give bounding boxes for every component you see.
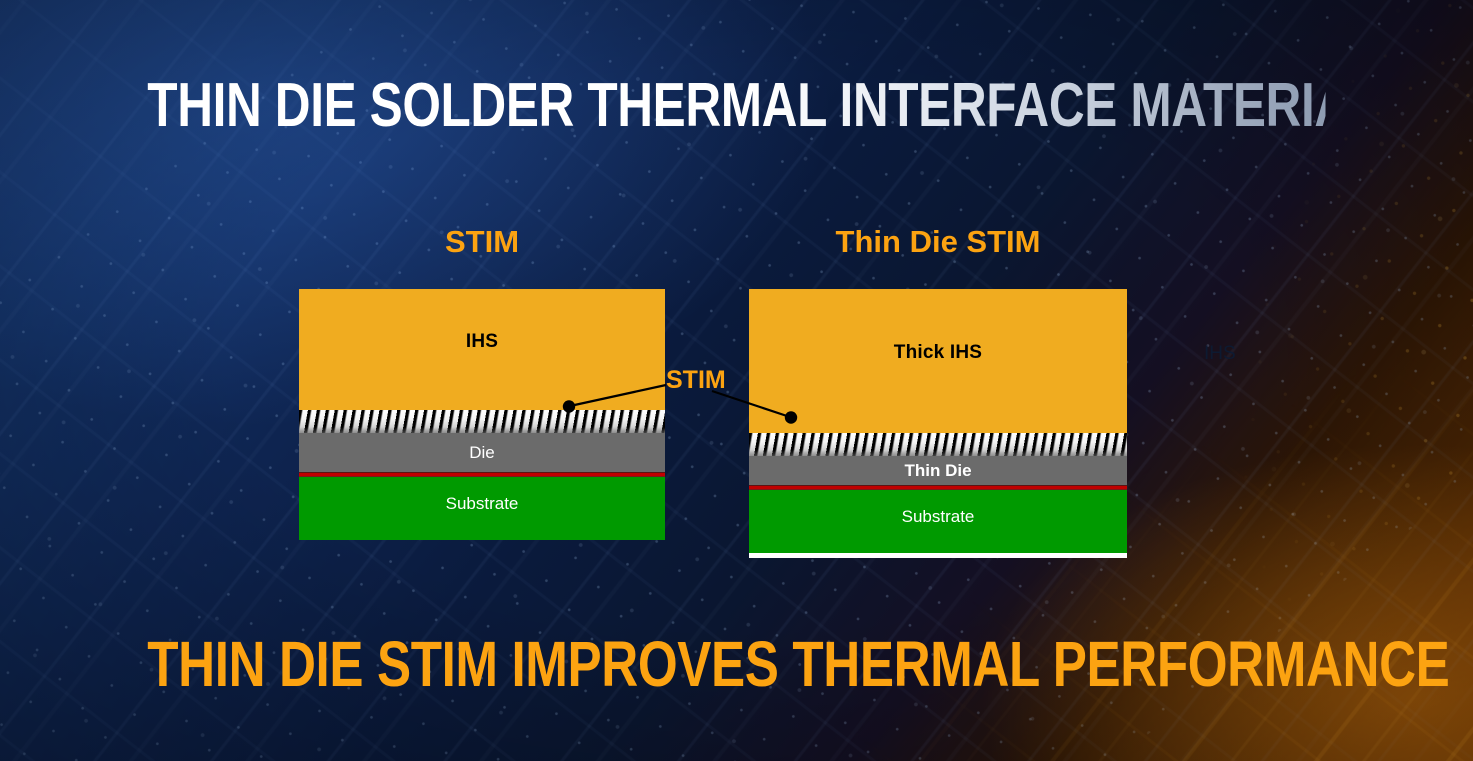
layer-stim-sawtooth	[749, 433, 1127, 456]
layer-base-white	[749, 553, 1127, 558]
layer-substrate: Substrate	[299, 477, 665, 540]
layer-label-thin-die: Thin Die	[904, 461, 971, 481]
diagram-heading-stim: STIM	[299, 224, 665, 260]
layer-label-ihs: IHS	[466, 331, 498, 353]
diagram-stack-stim: IHS Die Substrate	[299, 289, 665, 540]
layer-substrate: Substrate	[749, 490, 1127, 553]
background-ihs-artifact: IHS	[1204, 343, 1236, 365]
layer-stim-sawtooth	[299, 410, 665, 433]
stim-callout-label: STIM	[666, 366, 726, 395]
layer-label-substrate: Substrate	[446, 494, 519, 514]
slide-title: THIN DIE SOLDER THERMAL INTERFACE MATERI…	[147, 74, 1325, 137]
diagram-heading-thin-die-stim: Thin Die STIM	[749, 224, 1127, 260]
layer-thin-die: Thin Die	[749, 456, 1127, 485]
layer-label-substrate: Substrate	[902, 507, 975, 527]
footer-headline: THIN DIE STIM IMPROVES THERMAL PERFORMAN…	[147, 632, 1325, 697]
slide: IHS THIN DIE SOLDER THERMAL INTERFACE MA…	[0, 0, 1473, 761]
layer-ihs: IHS	[299, 289, 665, 410]
layer-die: Die	[299, 433, 665, 472]
layer-label-thick-ihs: Thick IHS	[894, 342, 982, 364]
layer-thick-ihs: Thick IHS	[749, 289, 1127, 433]
diagram-stack-thin-die-stim: Thick IHS Thin Die Substrate	[749, 289, 1127, 538]
layer-label-die: Die	[469, 443, 495, 463]
